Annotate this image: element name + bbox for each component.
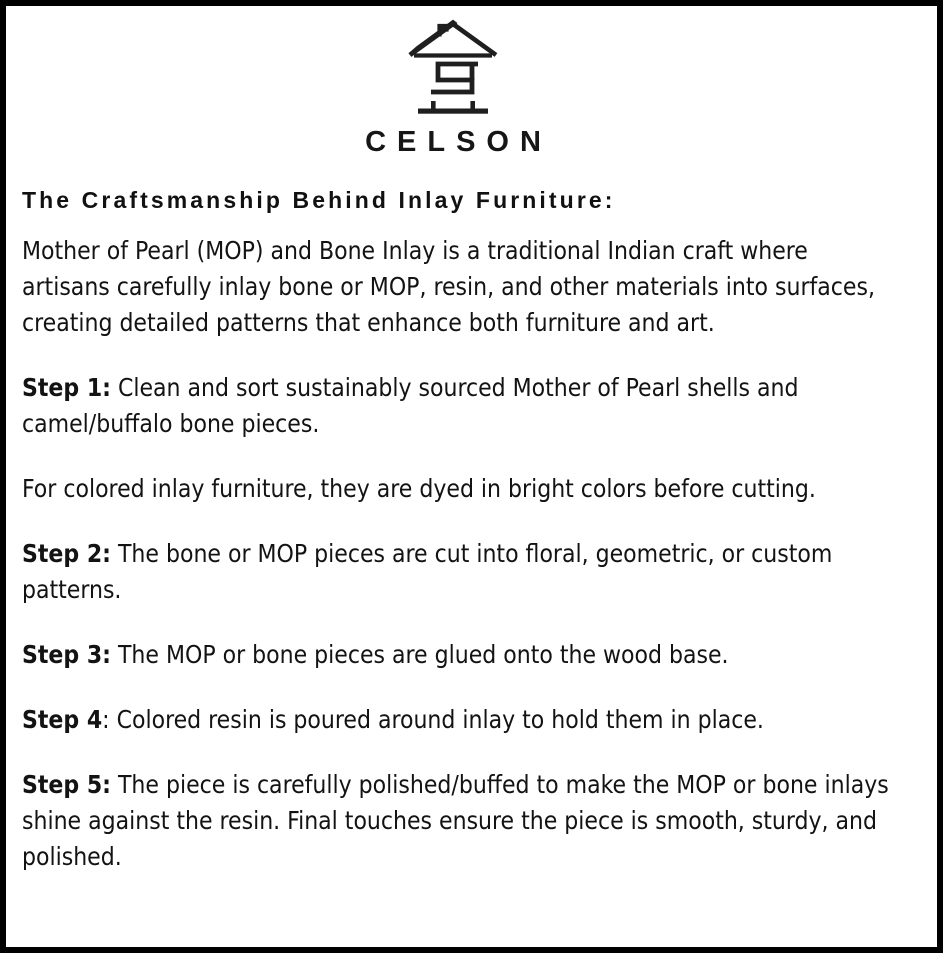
step-label: Step 1: <box>22 373 111 402</box>
paragraph-text: Mother of Pearl (MOP) and Bone Inlay is … <box>22 236 875 337</box>
paragraph-text: The piece is carefully polished/buffed t… <box>22 770 889 871</box>
article-body: Mother of Pearl (MOP) and Bone Inlay is … <box>22 233 890 875</box>
paragraph-text: Colored resin is poured around inlay to … <box>110 705 764 734</box>
house-monogram-logo-icon <box>406 18 500 118</box>
step-label: Step 4 <box>22 705 102 734</box>
paragraph-text: The MOP or bone pieces are glued onto th… <box>111 640 729 669</box>
poster-content: CELSON The Craftsmanship Behind Inlay Fu… <box>6 6 937 947</box>
brand-wordmark: CELSON <box>16 128 890 157</box>
paragraph-step-2: Step 2: The bone or MOP pieces are cut i… <box>22 536 890 608</box>
step-label: Step 3: <box>22 640 111 669</box>
paragraph-step-5: Step 5: The piece is carefully polished/… <box>22 767 890 875</box>
step-label: Step 2: <box>22 539 111 568</box>
paragraph-text: For colored inlay furniture, they are dy… <box>22 474 816 503</box>
paragraph-step-3: Step 3: The MOP or bone pieces are glued… <box>22 637 890 673</box>
step-label: Step 5: <box>22 770 111 799</box>
brand-header: CELSON <box>16 12 890 157</box>
paragraph-text: The bone or MOP pieces are cut into flor… <box>22 539 832 604</box>
paragraph-intro: Mother of Pearl (MOP) and Bone Inlay is … <box>22 233 890 341</box>
paragraph-text: Clean and sort sustainably sourced Mothe… <box>22 373 799 438</box>
paragraph-step-1: Step 1: Clean and sort sustainably sourc… <box>22 370 890 442</box>
step-label-trailing: : <box>102 705 109 734</box>
paragraph-dye-note: For colored inlay furniture, they are dy… <box>22 471 890 507</box>
page-title: The Craftsmanship Behind Inlay Furniture… <box>22 187 890 215</box>
poster-frame: CELSON The Craftsmanship Behind Inlay Fu… <box>0 0 943 953</box>
paragraph-step-4: Step 4: Colored resin is poured around i… <box>22 702 890 738</box>
